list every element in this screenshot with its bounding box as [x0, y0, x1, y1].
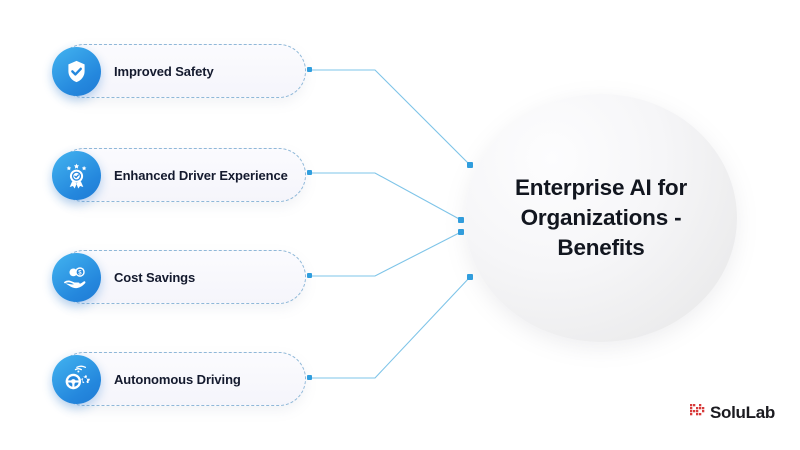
center-node: Enterprise AI for Organizations - Benefi… [465, 94, 737, 342]
shield-check-icon [52, 47, 101, 96]
benefit-label: Cost Savings [114, 270, 195, 285]
steering-wheel-gear-wifi-icon [52, 355, 101, 404]
connector-line-2 [310, 232, 461, 276]
solulab-pixel-mark-icon [690, 403, 705, 423]
benefit-item-enhanced-driver-experience[interactable]: Enhanced Driver Experience [57, 148, 306, 202]
page-title: Enterprise AI for Organizations - Benefi… [486, 173, 716, 263]
connector-dot-right-1 [458, 217, 464, 223]
connector-dot-left-3 [307, 375, 312, 380]
infographic-canvas: Enterprise AI for Organizations - Benefi… [0, 0, 800, 450]
benefit-label: Improved Safety [114, 64, 214, 79]
connector-dot-right-0 [467, 162, 473, 168]
benefit-label: Enhanced Driver Experience [114, 168, 288, 183]
connector-dot-right-2 [458, 229, 464, 235]
connector-dot-left-0 [307, 67, 312, 72]
connector-dot-right-3 [467, 274, 473, 280]
brand-logo[interactable]: SoluLab [690, 403, 775, 423]
award-badge-stars-icon [52, 151, 101, 200]
connector-dot-left-1 [307, 170, 312, 175]
connector-dot-left-2 [307, 273, 312, 278]
connector-line-3 [310, 277, 470, 378]
hand-holding-money-icon: $ [52, 253, 101, 302]
benefit-item-cost-savings[interactable]: $ Cost Savings [57, 250, 306, 304]
benefit-label: Autonomous Driving [114, 372, 241, 387]
benefit-item-improved-safety[interactable]: Improved Safety [57, 44, 306, 98]
connector-line-1 [310, 173, 461, 220]
connector-line-0 [310, 70, 470, 165]
brand-name: SoluLab [710, 403, 775, 423]
benefit-item-autonomous-driving[interactable]: Autonomous Driving [57, 352, 306, 406]
